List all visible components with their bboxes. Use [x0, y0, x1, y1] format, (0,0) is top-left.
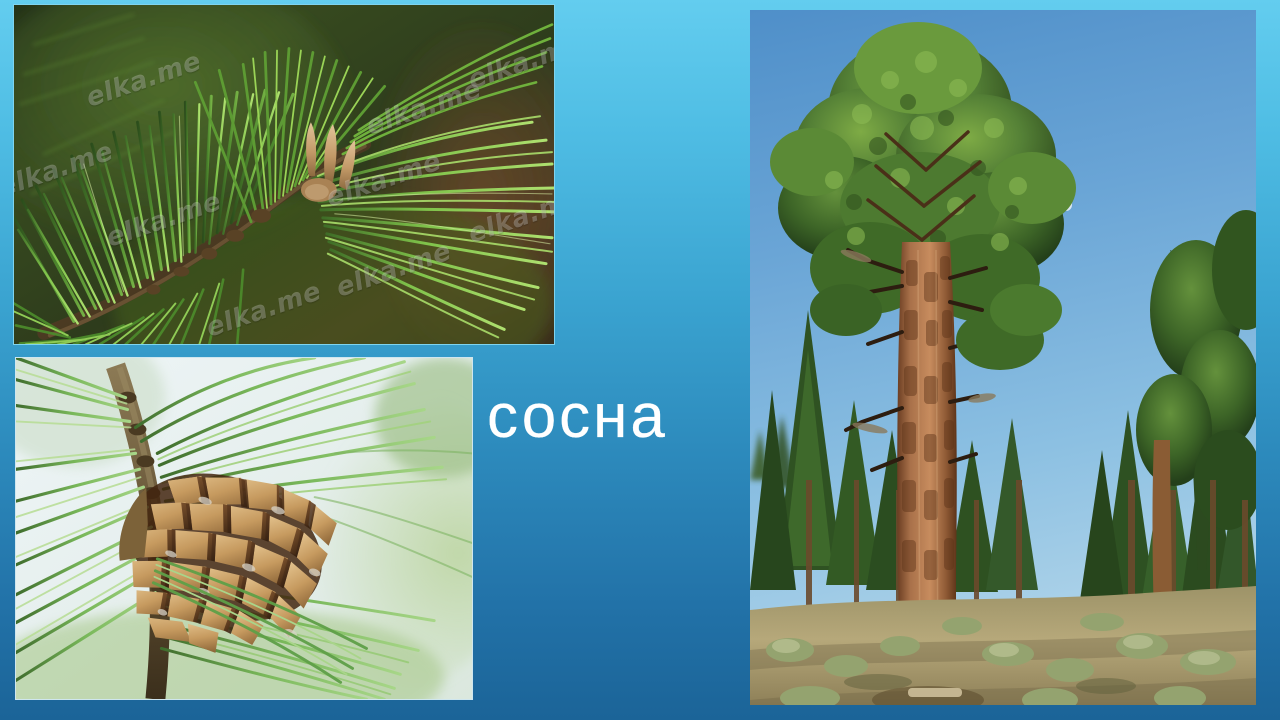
pine-tree-photo[interactable] [750, 10, 1256, 705]
pine-cone-illustration [16, 358, 472, 699]
page-title: сосна [487, 386, 757, 448]
presentation-slide: elka.me elka.me elka.me elka.me elka.me … [0, 0, 1280, 720]
pine-tree-illustration [750, 10, 1256, 705]
pine-needles-photo[interactable]: elka.me elka.me elka.me elka.me elka.me … [13, 4, 555, 345]
pine-needles-illustration [14, 5, 554, 344]
pine-cone-photo[interactable] [15, 357, 473, 700]
